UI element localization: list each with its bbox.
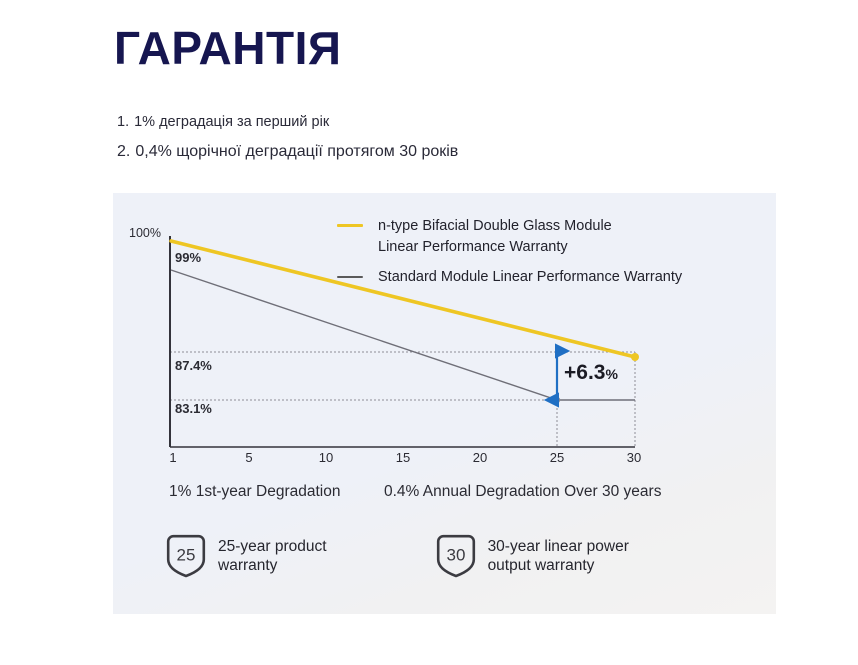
- warranty-badge-row: 25 25-year product warranty 30 30-year l…: [165, 533, 629, 579]
- list-item: 2. 0,4% щорічної деградації протягом 30 …: [117, 143, 717, 161]
- shield-badge-number: 25: [177, 546, 196, 565]
- x-tick-label-5: 5: [245, 450, 252, 465]
- y-tick-label-99: 99%: [175, 250, 201, 265]
- list-item-number: 2.: [117, 143, 130, 161]
- x-tick-label-25: 25: [550, 450, 564, 465]
- y-tick-label-874: 87.4%: [175, 358, 212, 373]
- list-item-label: 0,4% щорічної деградації протягом 30 рок…: [135, 143, 458, 161]
- shield-icon: 30: [435, 533, 477, 579]
- x-tick-label-10: 10: [319, 450, 333, 465]
- y-tick-label-100: 100%: [129, 226, 161, 240]
- list-item-number: 1.: [117, 114, 129, 130]
- y-tick-label-831: 83.1%: [175, 401, 212, 416]
- warranty-label-power-output: 30-year linear power output warranty: [488, 537, 629, 576]
- warranty-label-product: 25-year product warranty: [218, 537, 327, 576]
- shield-badge-number: 30: [446, 546, 465, 565]
- endpoint-marker-ntype: [631, 353, 639, 361]
- caption-annual-degradation: 0.4% Annual Degradation Over 30 years: [384, 483, 661, 501]
- delta-unit: %: [605, 366, 617, 382]
- list-item: 1. 1% деградація за перший рік: [117, 114, 717, 130]
- delta-value: +6.3: [564, 361, 605, 384]
- x-tick-label-15: 15: [396, 450, 410, 465]
- degradation-bullet-list: 1. 1% деградація за перший рік 2. 0,4% щ…: [117, 114, 717, 174]
- caption-first-year-degradation: 1% 1st-year Degradation: [169, 483, 340, 501]
- series-line-ntype: [171, 241, 635, 357]
- shield-icon: 25: [165, 533, 207, 579]
- x-tick-label-1: 1: [169, 450, 176, 465]
- x-tick-label-20: 20: [473, 450, 487, 465]
- warranty-item-product: 25 25-year product warranty: [165, 533, 327, 579]
- warranty-chart-panel: n-type Bifacial Double Glass Module Line…: [113, 193, 776, 614]
- delta-annotation-label: +6.3%: [564, 361, 618, 385]
- x-tick-label-30: 30: [627, 450, 641, 465]
- warranty-item-power-output: 30 30-year linear power output warranty: [435, 533, 629, 579]
- list-item-label: 1% деградація за перший рік: [134, 114, 329, 130]
- page-title: ГАРАНТІЯ: [114, 24, 341, 72]
- chart-caption-row: 1% 1st-year Degradation 0.4% Annual Degr…: [113, 483, 776, 507]
